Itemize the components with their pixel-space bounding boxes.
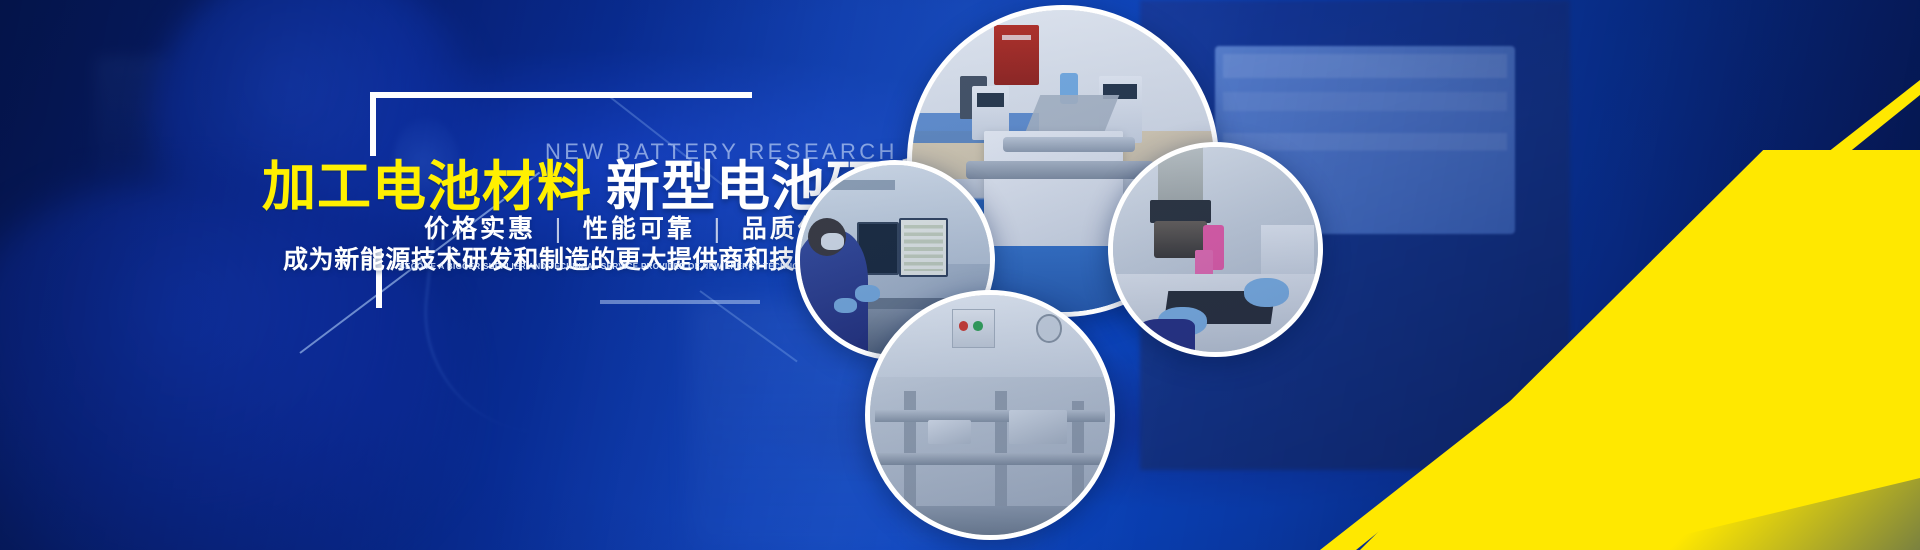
feature-item-performance: 性能可靠 (583, 214, 695, 243)
hero-banner: NEW BATTERY RESEARCH 加工电池材料新型电池研究 价格实惠 |… (0, 0, 1920, 550)
feature-item-price: 价格实惠 (424, 214, 536, 243)
photo-press-machine-gloved-hands-image (1113, 147, 1318, 352)
photo-assembly-line-rack-image (870, 295, 1110, 535)
feature-separator-2: | (707, 214, 730, 243)
photo-assembly-line-rack (865, 290, 1115, 540)
photo-collage (790, 0, 1490, 550)
headline-copy-block: NEW BATTERY RESEARCH 加工电池材料新型电池研究 价格实惠 |… (0, 0, 800, 550)
photo-press-machine-gloved-hands (1108, 142, 1323, 357)
feature-separator-1: | (548, 214, 571, 243)
